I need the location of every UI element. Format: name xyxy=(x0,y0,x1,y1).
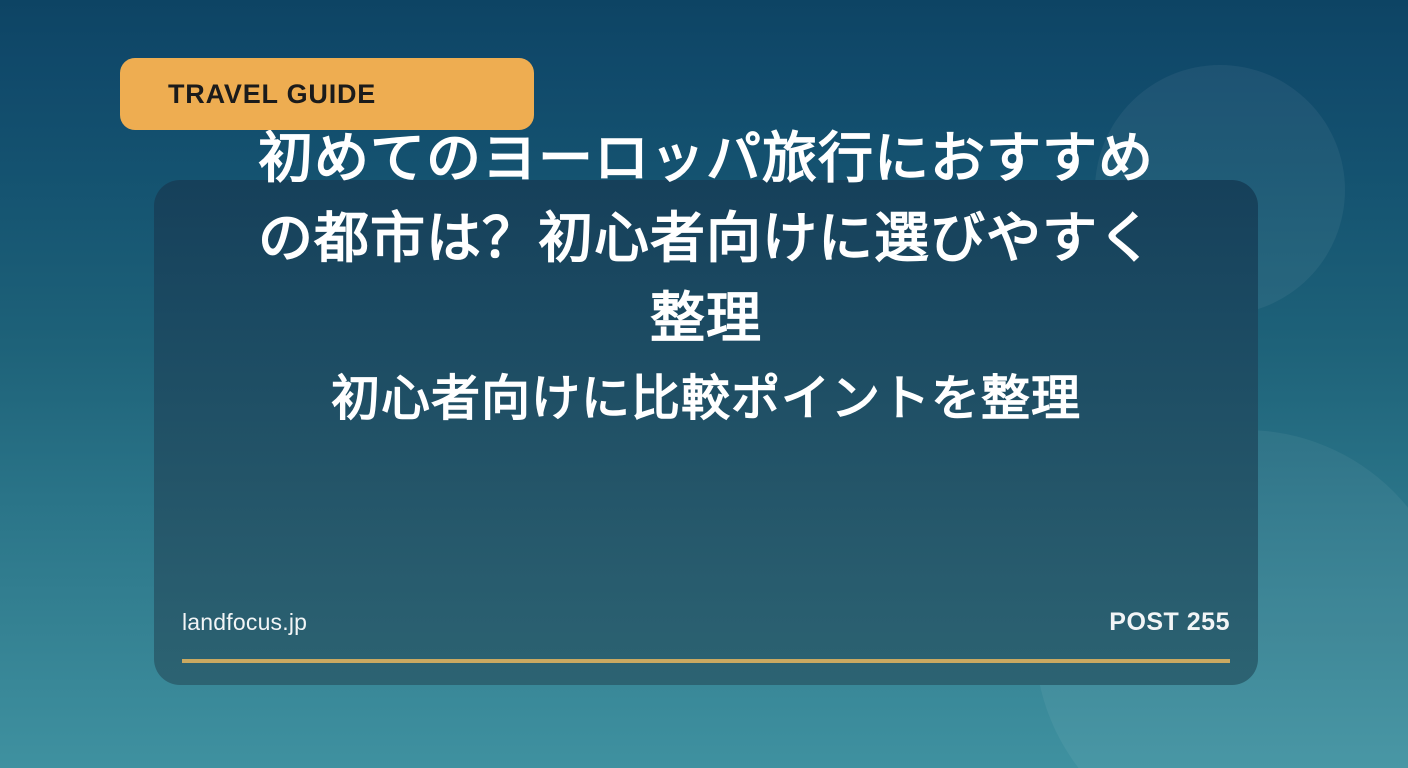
card-footer: landfocus.jp POST 255 xyxy=(182,608,1230,637)
category-badge: TRAVEL GUIDE xyxy=(120,58,534,130)
social-card-canvas: TRAVEL GUIDE 初めてのヨーロッパ旅行におすすめ の都市は？初心者向け… xyxy=(0,0,1408,768)
title-block: 初めてのヨーロッパ旅行におすすめ の都市は？初心者向けに選びやすく 整理 初心者… xyxy=(154,118,1258,440)
footer-divider-rule xyxy=(182,659,1230,663)
footer-post-number: POST 255 xyxy=(1109,608,1230,637)
footer-site-name: landfocus.jp xyxy=(182,609,307,636)
subtitle: 初心者向けに比較ポイントを整理 xyxy=(154,358,1258,440)
category-badge-label: TRAVEL GUIDE xyxy=(120,81,376,108)
title-line-1: 初めてのヨーロッパ旅行におすすめ xyxy=(154,118,1258,198)
title-line-3: 整理 xyxy=(154,278,1258,358)
title-line-2: の都市は？初心者向けに選びやすく xyxy=(154,198,1258,278)
